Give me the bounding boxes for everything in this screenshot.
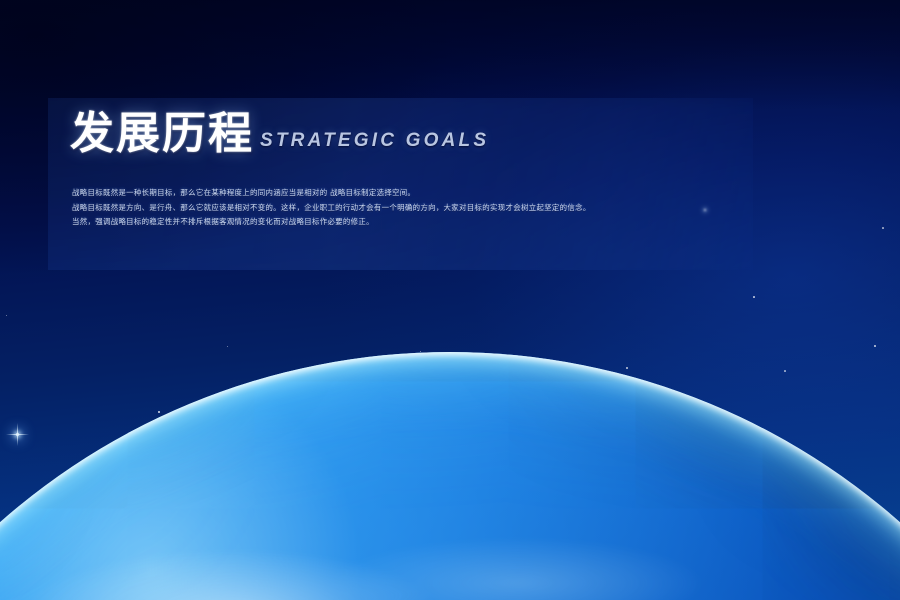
headline-group: 发展历程 STRATEGIC GOALS (70, 112, 489, 156)
page-title: 发展历程 (70, 112, 254, 156)
star-icon (882, 227, 884, 229)
earth-limb-highlight (0, 352, 900, 600)
star-icon (753, 296, 755, 298)
body-line: 战略目标既然是一种长期目标，那么它在某种程度上的同内涵应当是相对的 战略目标制定… (72, 186, 712, 201)
body-line: 战略目标既然是方向、是行舟、那么它就应该是相对不变的。这样，企业职工的行动才会有… (72, 201, 712, 216)
earth-surface (0, 352, 900, 600)
star-icon (874, 345, 876, 347)
star-icon (6, 315, 7, 316)
body-copy-block: 战略目标既然是一种长期目标，那么它在某种程度上的同内涵应当是相对的 战略目标制定… (72, 186, 712, 230)
star-icon (227, 346, 228, 347)
banner-stage: 发展历程 STRATEGIC GOALS 战略目标既然是一种长期目标，那么它在某… (0, 0, 900, 600)
earth-globe (0, 352, 900, 600)
body-line: 当然，强调战略目标的稳定性并不排斥根据客观情况的变化而对战略目标作必要的修正。 (72, 215, 712, 230)
page-subtitle: STRATEGIC GOALS (260, 130, 489, 152)
